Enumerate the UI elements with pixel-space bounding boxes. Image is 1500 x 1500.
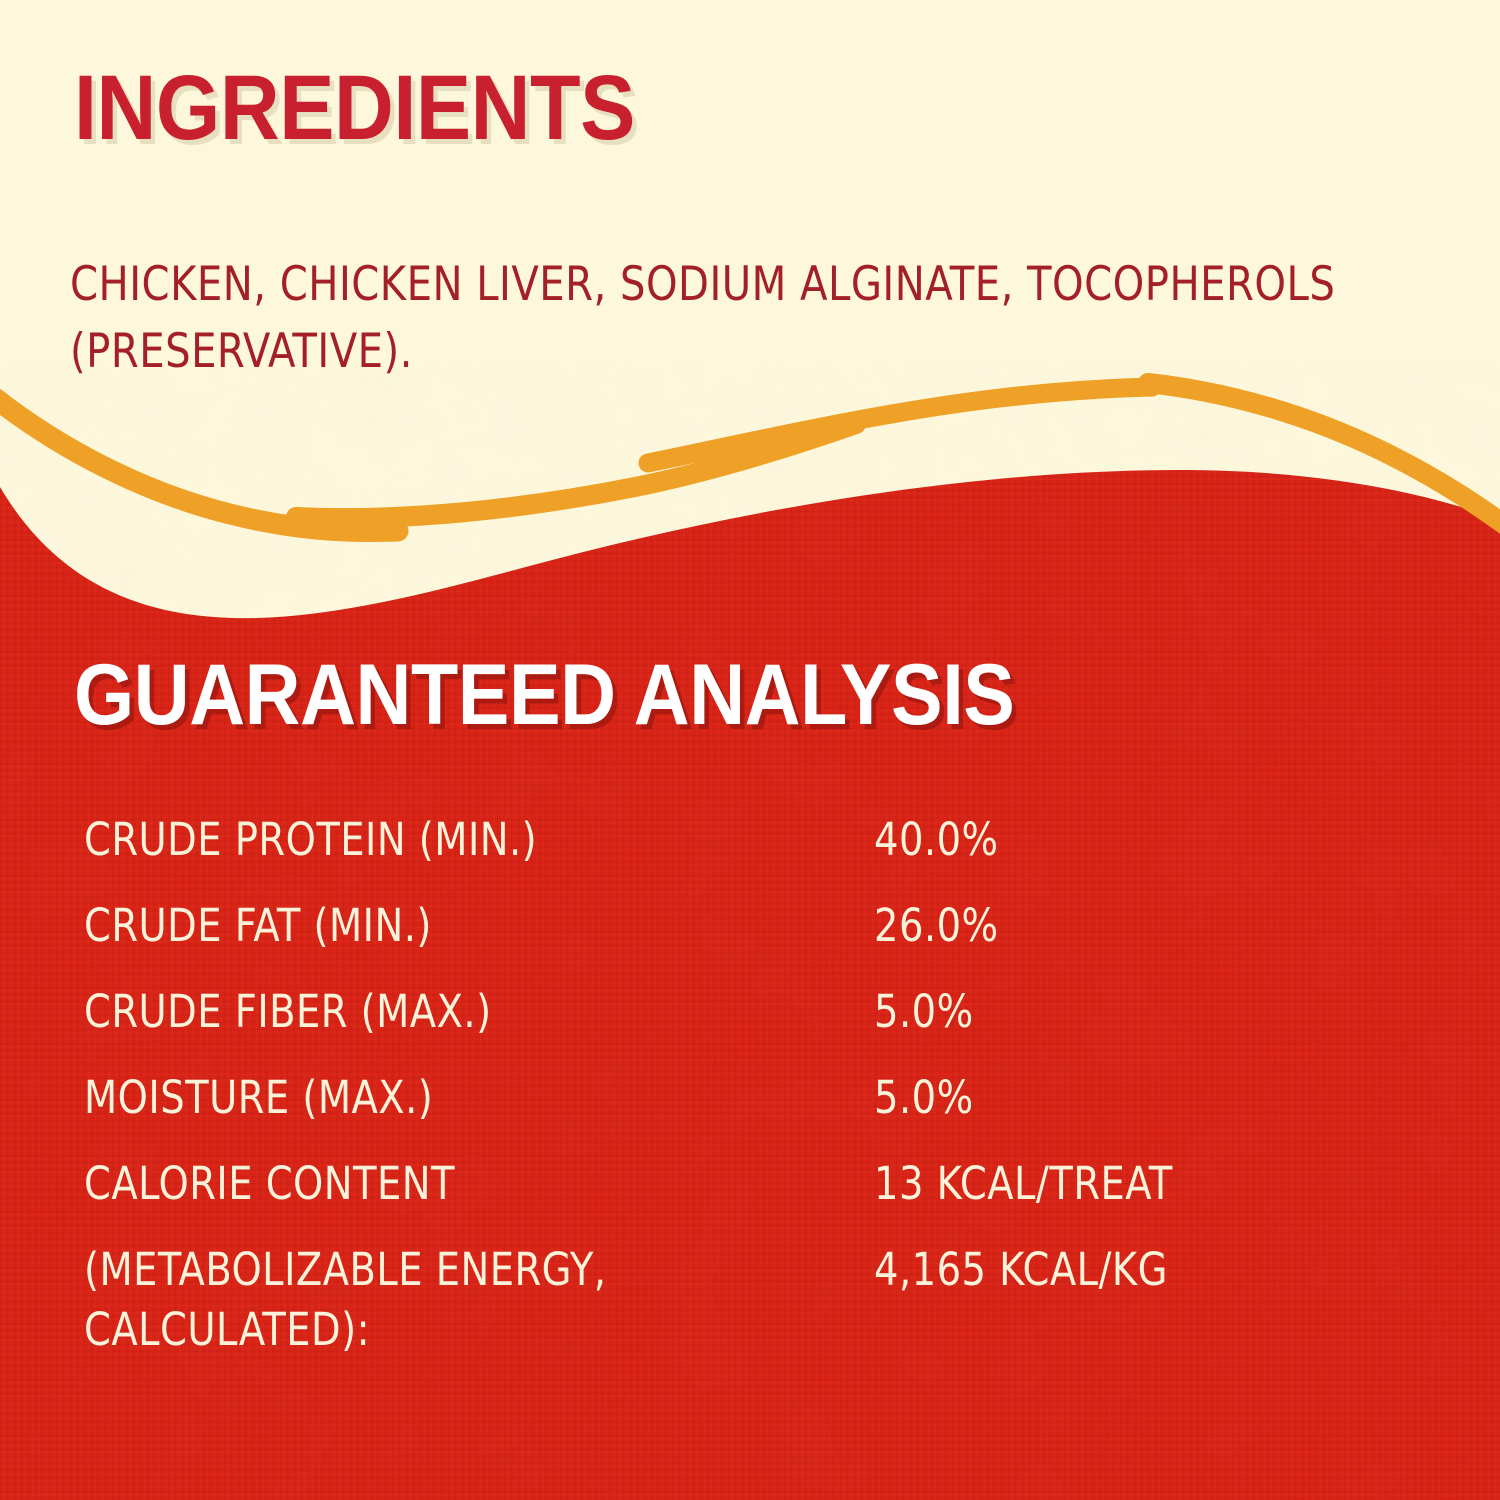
packaging-panel: INGREDIENTS CHICKEN, CHICKEN LIVER, SODI… [0, 0, 1500, 1500]
guaranteed-analysis-heading: GUARANTEED ANALYSIS [74, 652, 1014, 738]
table-row: CALORIE CONTENT 13 KCAL/TREAT [84, 1154, 1424, 1240]
row-label: CALORIE CONTENT [84, 1154, 835, 1214]
row-value: 5.0% [874, 982, 1397, 1042]
analysis-table: CRUDE PROTEIN (MIN.) 40.0% CRUDE FAT (MI… [84, 810, 1424, 1360]
row-label: MOISTURE (MAX.) [84, 1068, 835, 1128]
row-value: 40.0% [874, 810, 1397, 870]
row-value: 13 KCAL/TREAT [874, 1154, 1397, 1214]
row-label: CRUDE PROTEIN (MIN.) [84, 810, 835, 870]
row-label: CRUDE FAT (MIN.) [84, 896, 835, 956]
ingredients-list: CHICKEN, CHICKEN LIVER, SODIUM ALGINATE,… [70, 252, 1362, 385]
table-row: MOISTURE (MAX.) 5.0% [84, 1068, 1424, 1154]
table-row: CRUDE FIBER (MAX.) 5.0% [84, 982, 1424, 1068]
table-row: CRUDE PROTEIN (MIN.) 40.0% [84, 810, 1424, 896]
ingredients-heading: INGREDIENTS [74, 62, 635, 154]
row-value: 5.0% [874, 1068, 1397, 1128]
row-value: 4,165 KCAL/KG [874, 1240, 1397, 1300]
row-label: (METABOLIZABLE ENERGY, CALCULATED): [84, 1240, 835, 1360]
table-row: (METABOLIZABLE ENERGY, CALCULATED): 4,16… [84, 1240, 1424, 1360]
row-label: CRUDE FIBER (MAX.) [84, 982, 835, 1042]
row-value: 26.0% [874, 896, 1397, 956]
table-row: CRUDE FAT (MIN.) 26.0% [84, 896, 1424, 982]
